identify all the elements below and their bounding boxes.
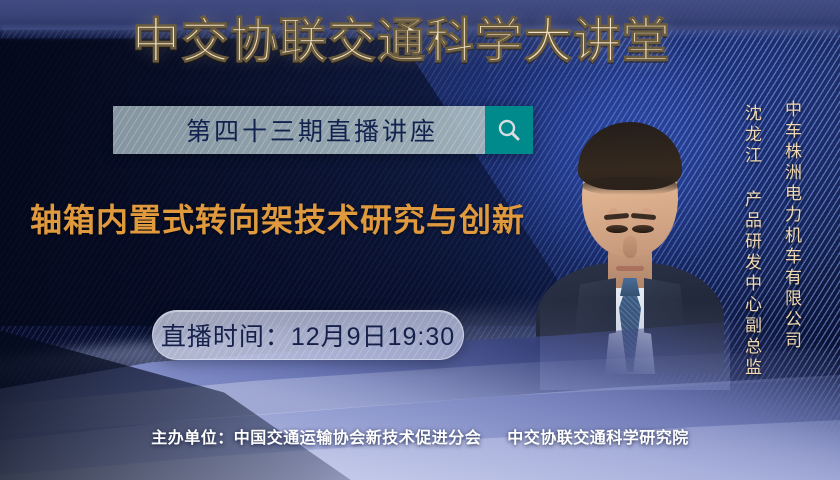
search-button[interactable]	[485, 106, 533, 154]
organizer-footer: 主办单位：中国交通运输协会新技术促进分会中交协联交通科学研究院	[0, 424, 840, 448]
speaker-company: 中车株洲电力机车有限公司	[779, 100, 804, 352]
portrait-eyebrow-right	[631, 213, 656, 220]
speaker-name-and-title: 沈龙江 产品研发中心副总监	[739, 104, 764, 379]
portrait-lapel-right	[644, 278, 686, 340]
portrait-hair	[578, 122, 682, 190]
page-title: 中交协联交通科学大讲堂	[132, 14, 671, 70]
portrait-eye-left	[606, 225, 628, 233]
broadcast-time-pill: 直播时间：12月9日19:30	[152, 310, 464, 360]
portrait-eye-right	[632, 225, 654, 233]
organizer-secondary: 中交协联交通科学研究院	[507, 430, 689, 447]
organizer-primary: 主办单位：中国交通运输协会新技术促进分会	[151, 430, 481, 447]
search-icon	[496, 117, 522, 143]
lecture-topic: 轴箱内置式转向架技术研究与创新	[30, 198, 525, 242]
subtitle-label: 第四十三期直播讲座	[113, 106, 485, 154]
subtitle-bar: 第四十三期直播讲座	[113, 106, 533, 154]
portrait-eyebrow-left	[604, 213, 629, 220]
livestream-poster: 中交协联交通科学大讲堂 第四十三期直播讲座 轴箱内置式转向架技术研究与创新 直播…	[0, 0, 840, 480]
broadcast-time-label: 直播时间：12月9日19:30	[161, 317, 455, 353]
speaker-portrait	[552, 106, 708, 374]
portrait-lapel-left	[574, 278, 616, 340]
portrait-nose	[623, 236, 637, 258]
portrait-mouth	[616, 266, 644, 271]
